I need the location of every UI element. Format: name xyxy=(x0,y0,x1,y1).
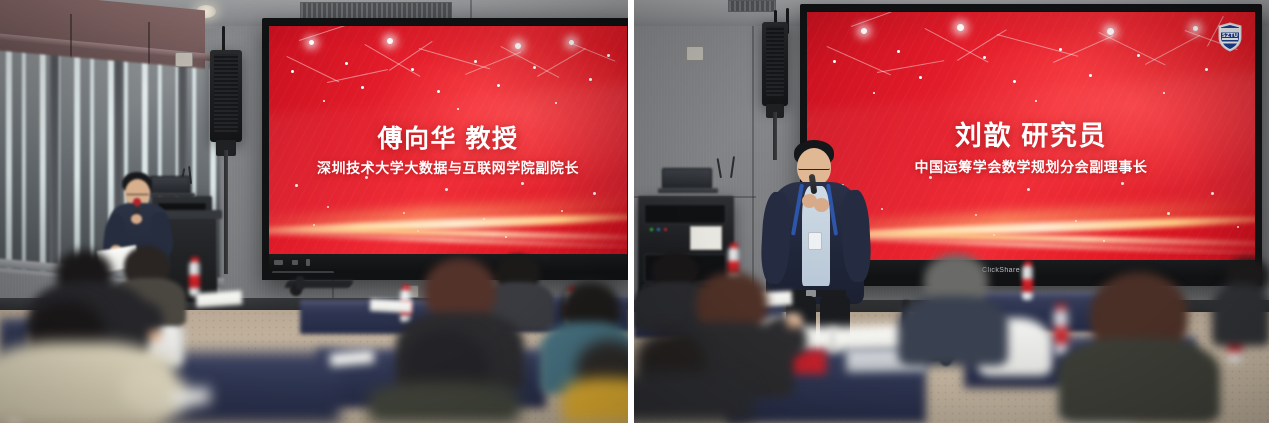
laptop-on-rack xyxy=(662,168,718,194)
speaker-grille xyxy=(766,26,784,96)
water-bottle xyxy=(1054,310,1068,354)
papers-on-table xyxy=(370,299,413,313)
display-bezel-left xyxy=(262,18,628,280)
window-mullion xyxy=(50,55,59,272)
microphone-head xyxy=(133,198,141,206)
led-display-left: 傅向华 教授 深圳技术大学大数据与互联网学院副院长 xyxy=(262,18,628,280)
ceiling-vent xyxy=(728,0,776,12)
speaker-grille xyxy=(214,54,238,132)
speaker-pole xyxy=(773,112,777,160)
loudspeaker-icon xyxy=(762,22,788,106)
water-bottle xyxy=(1022,266,1033,300)
laptop-on-rack xyxy=(150,176,196,198)
display-stand-post xyxy=(296,276,304,290)
water-bottle xyxy=(189,262,200,296)
loudspeaker-icon xyxy=(210,50,242,142)
wall-plate xyxy=(686,46,704,61)
photo-panel-left: 傅向华 教授 深圳技术大学大数据与互联网学院副院长 xyxy=(0,0,628,423)
screenshot-root: 傅向华 教授 深圳技术大学大数据与互联网学院副院长 xyxy=(0,0,1269,423)
speaker-pole xyxy=(224,150,228,274)
photo-panel-right: SZTU 刘歆 研究员 中国运筹学会数学规划分会副理事长 ClickShare xyxy=(634,0,1269,423)
name-badge xyxy=(808,232,822,250)
wall-plate xyxy=(175,52,193,67)
